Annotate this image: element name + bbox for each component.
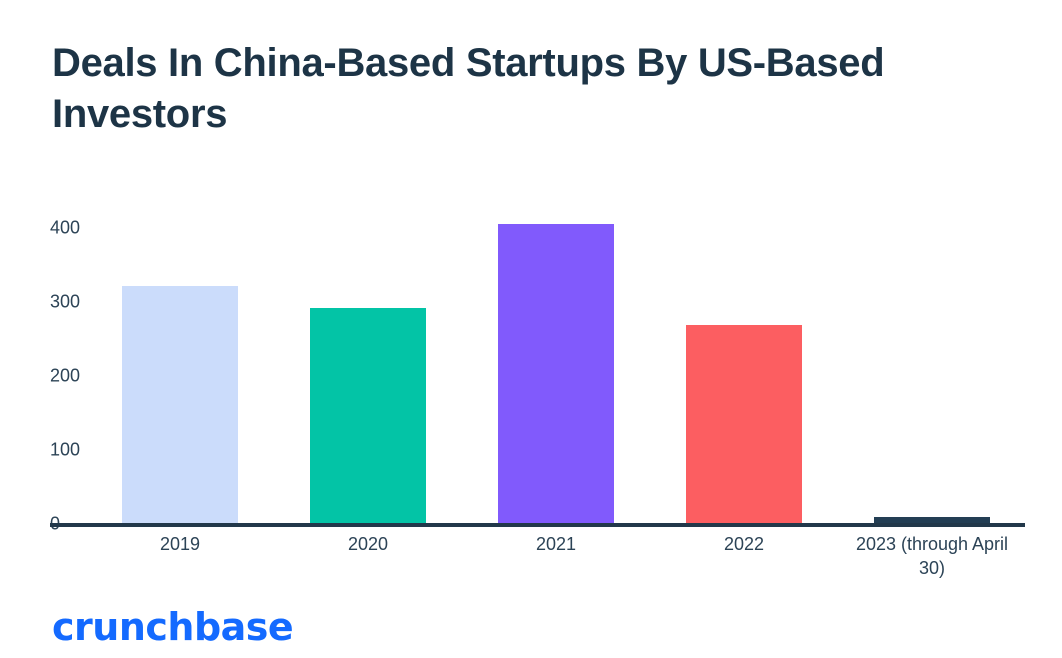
chart-figure: Deals In China-Based Startups By US-Base… [0,0,1062,658]
bars-layer [0,0,1062,524]
bar-2022[interactable] [686,325,802,524]
crunchbase-logo: crunchbase [52,605,293,649]
x-axis-labels: 20192020202120222023 (through April 30) [0,532,1062,602]
x-axis-line [50,523,1025,527]
bar-2019[interactable] [122,286,238,524]
x-axis-tick-label: 2020 [278,532,458,556]
x-axis-tick-label: 2019 [90,532,270,556]
x-axis-tick-label: 2021 [466,532,646,556]
x-axis-tick-label: 2023 (through April 30) [842,532,1022,581]
bar-2020[interactable] [310,308,426,524]
bar-2021[interactable] [498,224,614,524]
x-axis-tick-label: 2022 [654,532,834,556]
